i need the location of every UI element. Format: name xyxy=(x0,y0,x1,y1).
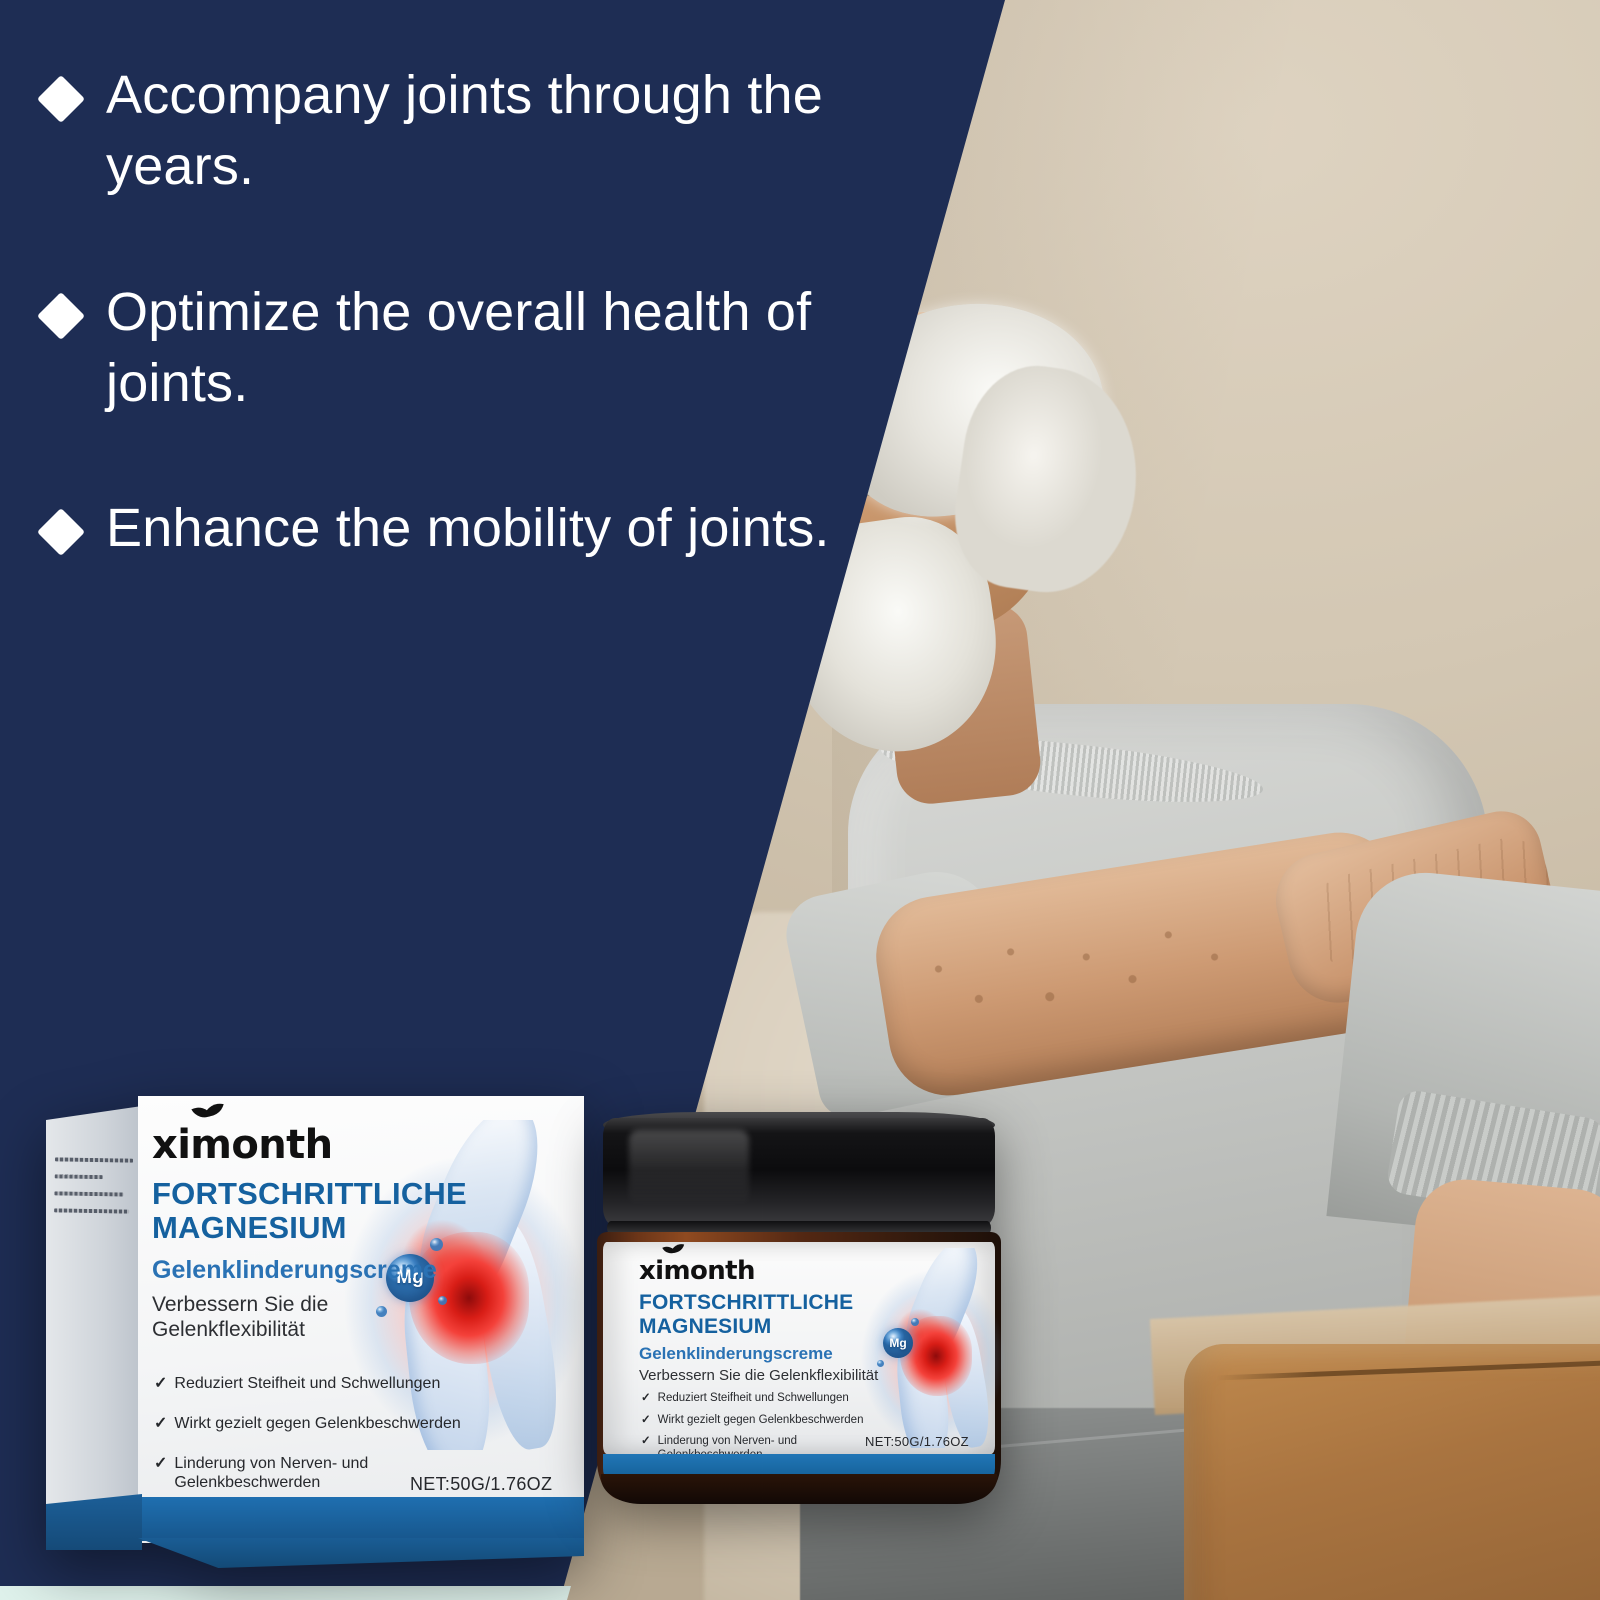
check-icon: ✓ xyxy=(154,1374,167,1393)
list-item: Optimize the overall health of joints. xyxy=(44,277,924,420)
inflamed-joint xyxy=(900,1316,972,1396)
carton-front-panel: Mg ximonth FORTSCHRITTLICHE MAGNESIUM Ge… xyxy=(138,1096,584,1543)
check-icon: ✓ xyxy=(154,1414,167,1433)
magnesium-dot xyxy=(911,1318,919,1326)
diamond-bullet-icon xyxy=(37,291,85,339)
magnesium-bubble: Mg xyxy=(883,1328,913,1358)
product-carton: Mg ximonth FORTSCHRITTLICHE MAGNESIUM Ge… xyxy=(46,1096,584,1566)
feature-item: ✓ Wirkt gezielt gegen Gelenkbeschwerden xyxy=(154,1414,461,1433)
inflamed-joint xyxy=(409,1232,529,1364)
product-title-line2: MAGNESIUM xyxy=(152,1212,347,1245)
check-icon: ✓ xyxy=(641,1414,651,1428)
check-icon: ✓ xyxy=(641,1392,651,1406)
product-subtitle: Gelenklinderungscreme xyxy=(152,1256,437,1285)
brand-name: ximonth xyxy=(639,1256,755,1286)
product-jar: Mg ximonth FORTSCHRITTLICHE MAGNESIUM Ge… xyxy=(597,1118,1001,1500)
product-title-line1: FORTSCHRITTLICHE xyxy=(639,1292,853,1314)
product-title-line2: MAGNESIUM xyxy=(639,1316,771,1338)
brand-logo: ximonth xyxy=(639,1256,1031,1286)
leather-armchair-arm xyxy=(1184,1344,1600,1600)
carton-base-shadow xyxy=(138,1538,584,1568)
brand-logo: ximonth xyxy=(152,1122,598,1168)
jar-lid xyxy=(603,1118,995,1226)
feature-text: Reduziert Steifheit und Schwellungen xyxy=(658,1392,849,1406)
feature-text: Wirkt gezielt gegen Gelenkbeschwerden xyxy=(174,1414,460,1433)
jar-lid-highlight xyxy=(629,1130,749,1206)
magnesium-dot xyxy=(438,1296,447,1305)
carton-microtext xyxy=(53,1157,133,1278)
jar-label: Mg ximonth FORTSCHRITTLICHE MAGNESIUM Ge… xyxy=(603,1242,995,1454)
benefit-text: Accompany joints through the years. xyxy=(106,60,906,203)
check-icon: ✓ xyxy=(641,1435,651,1449)
product-subtitle: Gelenklinderungscreme xyxy=(639,1344,833,1364)
carton-side-panel xyxy=(46,1106,142,1536)
feature-text: Reduziert Steifheit und Schwellungen xyxy=(174,1374,440,1393)
feature-text: Wirkt gezielt gegen Gelenkbeschwerden xyxy=(658,1414,864,1428)
net-weight: NET:50G/1.76OZ xyxy=(410,1474,552,1495)
feature-item: ✓ Reduziert Steifheit und Schwellungen xyxy=(641,1392,849,1406)
magnesium-label: Mg xyxy=(889,1336,906,1350)
magnesium-dot xyxy=(376,1306,387,1317)
benefit-text: Enhance the mobility of joints. xyxy=(106,493,830,564)
marketing-banner: Accompany joints through the years. Opti… xyxy=(0,0,1600,1600)
product-tagline-line1: Verbessern Sie die xyxy=(152,1292,328,1318)
benefit-list: Accompany joints through the years. Opti… xyxy=(44,60,924,638)
knee-joint-anatomy-graphic: Mg xyxy=(334,1120,584,1450)
check-icon: ✓ xyxy=(154,1454,167,1473)
feature-item: ✓ Reduziert Steifheit und Schwellungen xyxy=(154,1374,440,1393)
product-title-line1: FORTSCHRITTLICHE xyxy=(152,1178,467,1211)
diamond-bullet-icon xyxy=(37,508,85,556)
feature-text: Linderung von Nerven- und Gelenkbeschwer… xyxy=(174,1454,384,1492)
magnesium-dot xyxy=(877,1360,884,1367)
list-item: Enhance the mobility of joints. xyxy=(44,493,924,564)
carton-bottom-band xyxy=(138,1497,584,1541)
list-item: Accompany joints through the years. xyxy=(44,60,924,203)
magnesium-dot xyxy=(430,1238,443,1251)
benefit-text: Optimize the overall health of joints. xyxy=(106,277,906,420)
brand-name: ximonth xyxy=(152,1122,333,1168)
diamond-bullet-icon xyxy=(37,75,85,123)
feature-item: ✓ Linderung von Nerven- und Gelenkbeschw… xyxy=(154,1454,384,1492)
jar-base xyxy=(601,1474,997,1504)
net-weight: NET:50G/1.76OZ xyxy=(865,1434,969,1449)
feature-item: ✓ Wirkt gezielt gegen Gelenkbeschwerden xyxy=(641,1414,863,1428)
product-tagline-line2: Gelenkflexibilität xyxy=(152,1317,305,1343)
product-tagline: Verbessern Sie die Gelenkflexibilität xyxy=(639,1367,878,1385)
